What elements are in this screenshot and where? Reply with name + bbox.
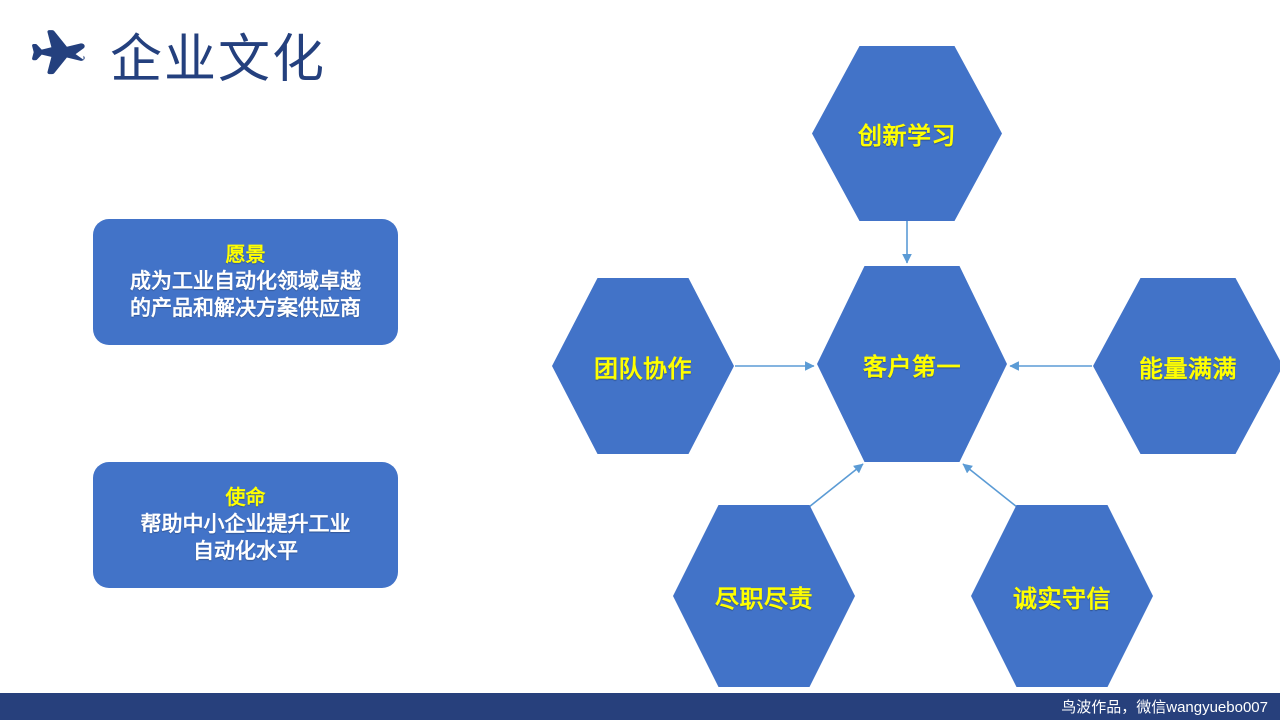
mission-card: 使命 帮助中小企业提升工业 自动化水平 <box>93 462 398 588</box>
footer-credit-text: 鸟波作品，微信wangyuebo007 <box>1061 696 1280 717</box>
airplane-icon <box>22 26 88 90</box>
hex-label-diligence: 尽职尽责 <box>715 579 813 614</box>
hex-label-innovation: 创新学习 <box>858 116 956 151</box>
mission-card-line-1: 帮助中小企业提升工业 <box>141 511 351 538</box>
hex-node-innovation[interactable]: 创新学习 <box>812 46 1002 221</box>
mission-card-line-2: 自动化水平 <box>193 538 298 565</box>
hex-node-diligence[interactable]: 尽职尽责 <box>673 505 855 687</box>
slide-header: 企业文化 <box>0 0 560 120</box>
mission-card-heading: 使命 <box>226 485 266 511</box>
page-title: 企业文化 <box>110 24 326 96</box>
hex-label-customer-first: 客户第一 <box>863 347 961 382</box>
connector-bottom-right <box>963 464 1017 507</box>
hex-node-customer-first[interactable]: 客户第一 <box>817 266 1007 462</box>
hex-label-teamwork: 团队协作 <box>594 349 692 384</box>
hex-node-teamwork[interactable]: 团队协作 <box>552 278 734 454</box>
footer-bar: 鸟波作品，微信wangyuebo007 <box>0 693 1280 720</box>
hex-label-integrity: 诚实守信 <box>1013 579 1111 614</box>
connector-bottom-left <box>809 464 863 507</box>
hex-label-energy: 能量满满 <box>1139 349 1237 384</box>
vision-card-line-2: 的产品和解决方案供应商 <box>130 295 361 322</box>
vision-card-heading: 愿景 <box>226 242 266 268</box>
culture-hexagon-diagram: 创新学习 团队协作 客户第一 能量满满 尽职尽责 诚实守信 <box>540 20 1280 680</box>
vision-card: 愿景 成为工业自动化领域卓越 的产品和解决方案供应商 <box>93 219 398 345</box>
vision-card-line-1: 成为工业自动化领域卓越 <box>130 268 361 295</box>
slide-canvas: 企业文化 愿景 成为工业自动化领域卓越 的产品和解决方案供应商 使命 帮助中小企… <box>0 0 1280 720</box>
hex-node-energy[interactable]: 能量满满 <box>1093 278 1280 454</box>
hex-node-integrity[interactable]: 诚实守信 <box>971 505 1153 687</box>
